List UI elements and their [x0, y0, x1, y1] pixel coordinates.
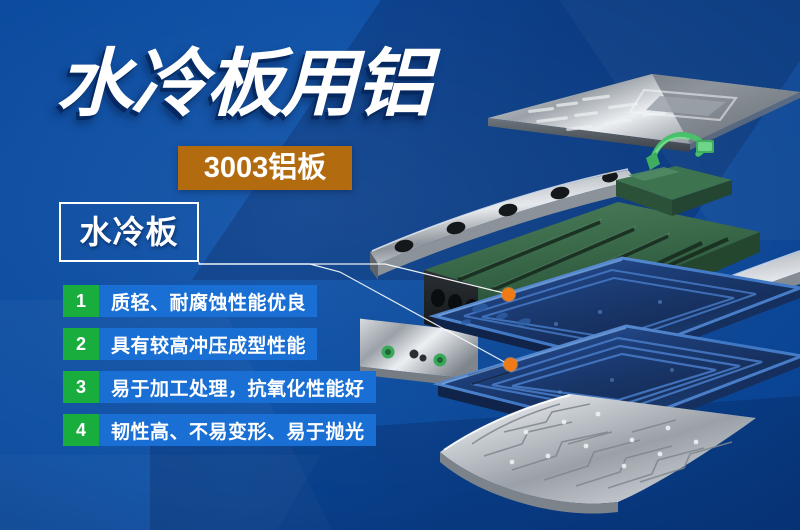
feature-item: 3 易于加工处理，抗氧化性能好: [63, 371, 483, 403]
feature-item: 4 韧性高、不易变形、易于抛光: [63, 414, 483, 446]
feature-text: 韧性高、不易变形、易于抛光: [99, 414, 376, 446]
feature-number-badge: 4: [63, 414, 99, 446]
alloy-grade-chip: 3003铝板: [178, 146, 352, 190]
category-callout-label: 水冷板: [79, 216, 178, 248]
feature-text: 质轻、耐腐蚀性能优良: [99, 285, 317, 317]
category-callout-box: 水冷板: [59, 202, 199, 262]
feature-text: 易于加工处理，抗氧化性能好: [99, 371, 376, 403]
cooling-plate-marker-lower-icon: [504, 358, 517, 371]
alloy-grade-label: 3003铝板: [204, 154, 327, 183]
feature-text: 具有较高冲压成型性能: [99, 328, 317, 360]
feature-number-badge: 2: [63, 328, 99, 360]
feature-item: 1 质轻、耐腐蚀性能优良: [63, 285, 483, 317]
feature-list: 1 质轻、耐腐蚀性能优良 2 具有较高冲压成型性能 3 易于加工处理，抗氧化性能…: [63, 285, 483, 457]
page-title: 水冷板用铝: [56, 47, 430, 121]
bottom-tray-plate: [440, 394, 756, 514]
cooling-plate-marker-upper-icon: [502, 288, 515, 301]
product-banner: 水冷板用铝 3003铝板 水冷板 1 质轻、耐腐蚀性能优良 2 具有较高冲压成型…: [0, 0, 800, 530]
feature-item: 2 具有较高冲压成型性能: [63, 328, 483, 360]
feature-number-badge: 3: [63, 371, 99, 403]
top-cover-plate: [488, 74, 800, 152]
feature-number-badge: 1: [63, 285, 99, 317]
